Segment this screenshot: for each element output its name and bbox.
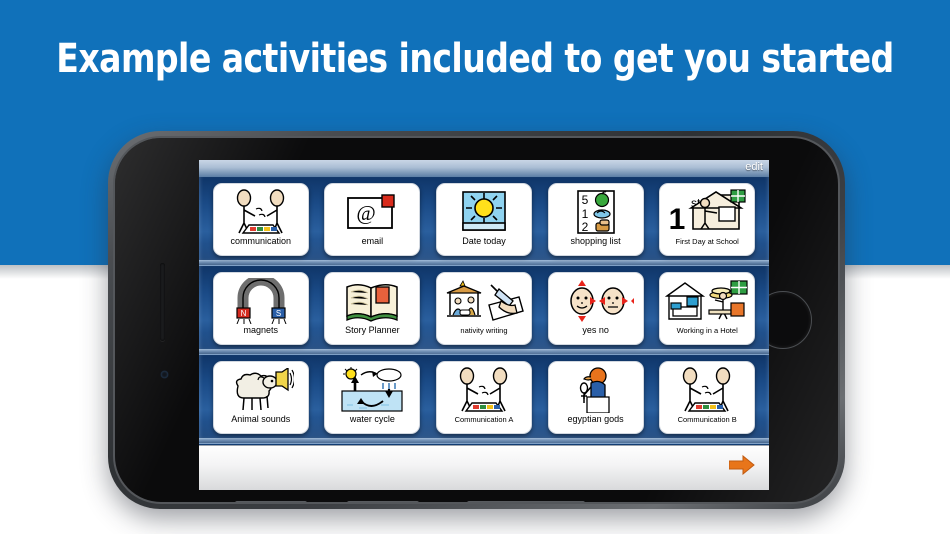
activity-tile-communication[interactable]: communication bbox=[213, 183, 309, 256]
activity-grid: communication @ ema bbox=[199, 177, 769, 445]
app-bottom-toolbar bbox=[199, 445, 769, 490]
tile-label: Story Planner bbox=[328, 325, 416, 336]
svg-text:5: 5 bbox=[581, 193, 588, 207]
shopping-list-icon: 5 1 2 bbox=[552, 188, 640, 236]
activity-row: N S magnets bbox=[199, 266, 769, 355]
svg-text:N: N bbox=[240, 309, 246, 318]
activity-tile-communication-a[interactable]: Communication A bbox=[436, 361, 532, 434]
sun-sky-icon bbox=[440, 188, 528, 236]
tile-label: magnets bbox=[217, 325, 305, 336]
page-headline: Example activities included to get you s… bbox=[38, 36, 912, 82]
activity-tile-egyptian-gods[interactable]: egyptian gods bbox=[548, 361, 644, 434]
tile-label: communication bbox=[217, 236, 305, 247]
tile-label: First Day at School bbox=[663, 236, 751, 247]
tile-label: egyptian gods bbox=[552, 414, 640, 425]
svg-text:1: 1 bbox=[581, 207, 588, 221]
activity-row: Animal sounds bbox=[199, 355, 769, 444]
activity-tile-water-cycle[interactable]: water cycle bbox=[324, 361, 420, 434]
earpiece-speaker-icon bbox=[160, 263, 165, 341]
phone-bezel: edit bbox=[113, 136, 840, 504]
tile-label: Working in a Hotel bbox=[663, 325, 751, 336]
activity-tile-email[interactable]: @ email bbox=[324, 183, 420, 256]
mute-switch[interactable] bbox=[467, 501, 585, 504]
front-camera-icon bbox=[161, 371, 168, 378]
phone-device-mockup: edit bbox=[108, 131, 845, 509]
horseshoe-magnet-icon: N S bbox=[217, 277, 305, 325]
activity-tile-shopping-list[interactable]: 5 1 2 bbox=[548, 183, 644, 256]
tile-label: Date today bbox=[440, 236, 528, 247]
tile-label: yes no bbox=[552, 325, 640, 336]
activity-row: communication @ ema bbox=[199, 177, 769, 266]
next-page-arrow-icon[interactable] bbox=[729, 455, 755, 475]
activity-tile-first-day-at-school[interactable]: 1 st bbox=[659, 183, 755, 256]
activity-tile-story-planner[interactable]: Story Planner bbox=[324, 272, 420, 345]
svg-text:2: 2 bbox=[581, 220, 588, 234]
activity-tile-communication-b[interactable]: Communication B bbox=[659, 361, 755, 434]
volume-down-button[interactable] bbox=[347, 501, 419, 504]
screenshot-root: Example activities included to get you s… bbox=[0, 0, 950, 534]
hotel-room-service-icon bbox=[663, 277, 751, 325]
activity-tile-yes-no[interactable]: yes no bbox=[548, 272, 644, 345]
app-screen: edit bbox=[199, 160, 769, 490]
at-sign-envelope-icon: @ bbox=[328, 188, 416, 236]
svg-text:S: S bbox=[276, 309, 281, 318]
tile-label: shopping list bbox=[552, 236, 640, 247]
open-book-icon bbox=[328, 277, 416, 325]
svg-text:1: 1 bbox=[669, 203, 686, 235]
activity-tile-working-in-a-hotel[interactable]: Working in a Hotel bbox=[659, 272, 755, 345]
nativity-scene-writing-hand-icon bbox=[440, 277, 528, 325]
activity-tile-magnets[interactable]: N S magnets bbox=[213, 272, 309, 345]
tile-label: Animal sounds bbox=[217, 414, 305, 425]
sheep-speaker-icon bbox=[217, 366, 305, 414]
volume-up-button[interactable] bbox=[235, 501, 307, 504]
app-topbar: edit bbox=[199, 160, 769, 177]
tile-label: Communication A bbox=[440, 414, 528, 425]
activity-tile-animal-sounds[interactable]: Animal sounds bbox=[213, 361, 309, 434]
edit-button[interactable]: edit bbox=[745, 161, 763, 173]
tile-label: email bbox=[328, 236, 416, 247]
tile-label: Communication B bbox=[663, 414, 751, 425]
activity-tile-nativity-writing[interactable]: nativity writing bbox=[436, 272, 532, 345]
activity-tile-date-today[interactable]: Date today bbox=[436, 183, 532, 256]
first-day-school-icon: 1 st bbox=[663, 188, 751, 236]
water-cycle-icon bbox=[328, 366, 416, 414]
tile-label: water cycle bbox=[328, 414, 416, 425]
tile-label: nativity writing bbox=[440, 325, 528, 336]
egyptian-god-figure-icon bbox=[552, 366, 640, 414]
two-people-communication-board-icon bbox=[440, 366, 528, 414]
two-people-communication-board-icon bbox=[663, 366, 751, 414]
svg-text:@: @ bbox=[357, 201, 376, 225]
two-people-communication-board-icon bbox=[217, 188, 305, 236]
yes-no-faces-icon bbox=[552, 277, 640, 325]
device-side-buttons bbox=[115, 498, 838, 504]
